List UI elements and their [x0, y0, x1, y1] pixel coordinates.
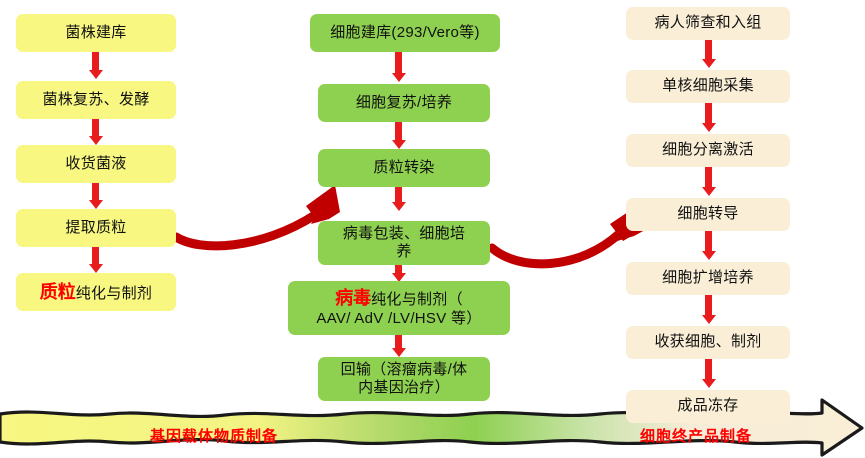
- arrow-v1-v2: [395, 52, 402, 74]
- node-label: 单核细胞采集: [662, 78, 754, 95]
- node-final-product-cryopreservation[interactable]: 成品冻存: [626, 390, 790, 423]
- node-label: 纯化与制剂: [76, 285, 153, 302]
- node-label-line1: 纯化与制剂（: [371, 291, 463, 308]
- node-cell-isolation-activation[interactable]: 细胞分离激活: [626, 134, 790, 167]
- node-label: 病人筛查和入组: [654, 15, 761, 32]
- node-label-line2: AAV/ AdV /LV/HSV 等）: [316, 310, 481, 328]
- node-label: 细胞分离激活: [662, 142, 754, 159]
- node-label: 质粒转染: [373, 160, 434, 177]
- node-cell-expansion-culture[interactable]: 细胞扩增培养: [626, 262, 790, 295]
- node-label: 菌株复苏、发酵: [42, 92, 149, 109]
- node-cell-revival-culture[interactable]: 细胞复苏/培养: [318, 84, 490, 122]
- arrow-c2-c3: [705, 103, 712, 124]
- node-strain-banking[interactable]: 菌株建库: [16, 14, 176, 52]
- node-label: 细胞转导: [677, 206, 738, 223]
- banner-label-left: 基因载体物质制备: [150, 425, 278, 446]
- node-label: 细胞扩增培养: [662, 270, 754, 287]
- arrow-c4-c5: [705, 231, 712, 252]
- node-label-line2: 养: [396, 243, 411, 261]
- arrow-c5-c6: [705, 295, 712, 316]
- curved-arrow-plasmid-to-transfection: [176, 185, 340, 246]
- node-label-line1: 回输（溶瘤病毒/体: [341, 361, 468, 379]
- arrow-v3-v4: [395, 187, 402, 203]
- node-virus-purification-formulation[interactable]: 病毒纯化与制剂（ AAV/ AdV /LV/HSV 等）: [288, 281, 510, 335]
- node-harvest-broth[interactable]: 收货菌液: [16, 145, 176, 183]
- node-strain-revival-fermentation[interactable]: 菌株复苏、发酵: [16, 81, 176, 119]
- node-cell-transduction[interactable]: 细胞转导: [626, 198, 790, 231]
- arrow-p4-p5: [92, 247, 99, 265]
- node-label-highlight: 病毒: [335, 288, 371, 308]
- node-label: 菌株建库: [65, 25, 126, 42]
- arrow-c1-c2: [705, 40, 712, 60]
- arrow-v2-v3: [395, 122, 402, 141]
- node-mononuclear-cell-collection[interactable]: 单核细胞采集: [626, 70, 790, 103]
- curved-arrow-virus-to-transduction: [492, 204, 645, 264]
- flowchart-canvas: 基因载体物质制备 细胞终产品制备 菌株建库 菌株复苏、发酵: [0, 0, 865, 458]
- arrow-v4-v5: [395, 265, 402, 274]
- node-plasmid-purification-formulation[interactable]: 质粒纯化与制剂: [16, 273, 176, 311]
- node-label: 收获细胞、制剂: [654, 334, 761, 351]
- arrow-p1-p2: [92, 52, 99, 71]
- node-patient-screening-enrollment[interactable]: 病人筛查和入组: [626, 7, 790, 40]
- banner-label-right: 细胞终产品制备: [640, 425, 752, 446]
- arrow-v5-v6: [395, 335, 402, 349]
- node-label: 细胞建库(293/Vero等): [330, 25, 480, 42]
- node-label: 提取质粒: [65, 220, 126, 237]
- node-label-line2: 内基因治疗）: [358, 379, 450, 397]
- node-label-line1: 病毒包装、细胞培: [343, 225, 465, 243]
- node-label: 细胞复苏/培养: [356, 95, 452, 112]
- node-plasmid-transfection[interactable]: 质粒转染: [318, 149, 490, 187]
- arrow-p3-p4: [92, 183, 99, 201]
- node-label: 成品冻存: [677, 398, 738, 415]
- node-plasmid-extraction[interactable]: 提取质粒: [16, 209, 176, 247]
- node-label-highlight: 质粒: [40, 282, 76, 302]
- node-virus-packaging-cell-culture[interactable]: 病毒包装、细胞培 养: [318, 221, 490, 265]
- node-cell-banking[interactable]: 细胞建库(293/Vero等): [310, 14, 500, 52]
- arrow-p2-p3: [92, 119, 99, 137]
- arrow-c6-c7: [705, 359, 712, 380]
- node-cell-harvest-formulation[interactable]: 收获细胞、制剂: [626, 326, 790, 359]
- node-infusion-oncolytic-invivo[interactable]: 回输（溶瘤病毒/体 内基因治疗）: [318, 357, 490, 401]
- arrow-c3-c4: [705, 167, 712, 188]
- node-label: 收货菌液: [65, 156, 126, 173]
